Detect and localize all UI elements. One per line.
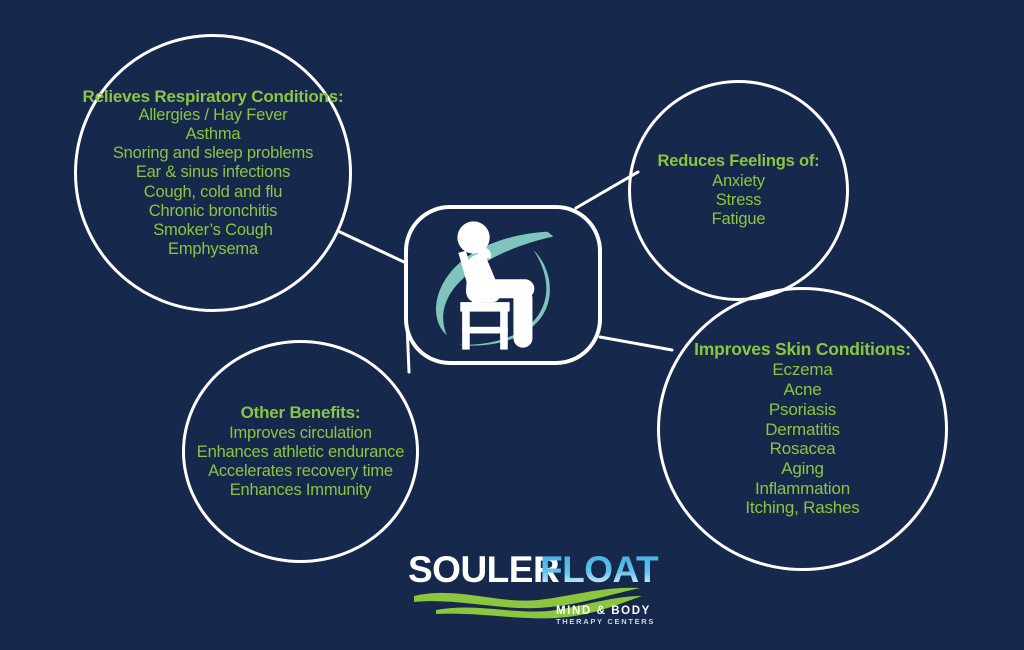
bubble-improves-skin-conditions[interactable]: Improves Skin Conditions: Eczema Acne Ps… <box>657 287 948 571</box>
bubble-list-item: Dermatitis <box>765 420 840 440</box>
bubble-list-item: Psoriasis <box>769 400 836 420</box>
logo-tagline-mind-and-body: MIND & BODY <box>556 605 651 617</box>
bubble-list-item: Chronic bronchitis <box>149 202 277 221</box>
bubble-list-item: Ear & sinus infections <box>136 163 290 182</box>
bubble-list-item: Asthma <box>186 125 241 144</box>
infographic-canvas: Relieves Respiratory Conditions: Allergi… <box>0 0 1024 650</box>
bubble-list-item: Allergies / Hay Fever <box>139 106 288 125</box>
bubble-title: Relieves Respiratory Conditions: <box>83 87 344 106</box>
center-hub[interactable] <box>404 205 602 365</box>
bubble-other-benefits[interactable]: Other Benefits: Improves circulation Enh… <box>182 340 419 563</box>
souler-float-logo[interactable]: SOULER FLOAT MIND & BODY THERAPY CENTERS <box>404 548 666 630</box>
logo-tagline-therapy-centers: THERAPY CENTERS <box>556 617 655 626</box>
bubble-list-item: Stress <box>716 191 762 210</box>
bubble-list-item: Enhances Immunity <box>230 481 372 500</box>
bubble-list-item: Snoring and sleep problems <box>113 144 313 163</box>
logo-word-float: FLOAT <box>540 549 659 590</box>
bubble-title: Other Benefits: <box>241 403 361 422</box>
person-seated-in-sauna-chair-icon <box>408 209 598 361</box>
bubble-list-item: Inflammation <box>755 479 850 499</box>
bubble-list-item: Acne <box>784 380 822 400</box>
chair-stretcher-icon <box>462 327 508 334</box>
bubble-list-item: Eczema <box>772 360 832 380</box>
bubble-list-item: Smoker’s Cough <box>153 221 272 240</box>
bubble-list-item: Anxiety <box>712 172 765 191</box>
bubble-list-item: Rosacea <box>770 439 836 459</box>
logo-word-souler: SOULER <box>408 549 559 590</box>
bubble-list-item: Itching, Rashes <box>745 498 859 518</box>
bubble-list-item: Enhances athletic endurance <box>197 443 404 462</box>
figure-shin-icon <box>513 289 532 348</box>
bubble-title: Reduces Feelings of: <box>658 152 820 170</box>
bubble-reduces-feelings-of[interactable]: Reduces Feelings of: Anxiety Stress Fati… <box>628 80 849 301</box>
bubble-list-item: Aging <box>781 459 823 479</box>
connector-hub-to-skin <box>600 337 672 350</box>
connector-hub-to-respiratory <box>340 232 404 262</box>
bubble-title: Improves Skin Conditions: <box>694 340 911 360</box>
bubble-list-item: Fatigue <box>712 210 766 229</box>
bubble-list-item: Cough, cold and flu <box>144 183 282 202</box>
bubble-list-item: Improves circulation <box>229 424 372 443</box>
bubble-list-item: Accelerates recovery time <box>208 462 393 481</box>
bubble-list-item: Emphysema <box>168 240 258 259</box>
bubble-relieves-respiratory-conditions[interactable]: Relieves Respiratory Conditions: Allergi… <box>74 34 352 312</box>
